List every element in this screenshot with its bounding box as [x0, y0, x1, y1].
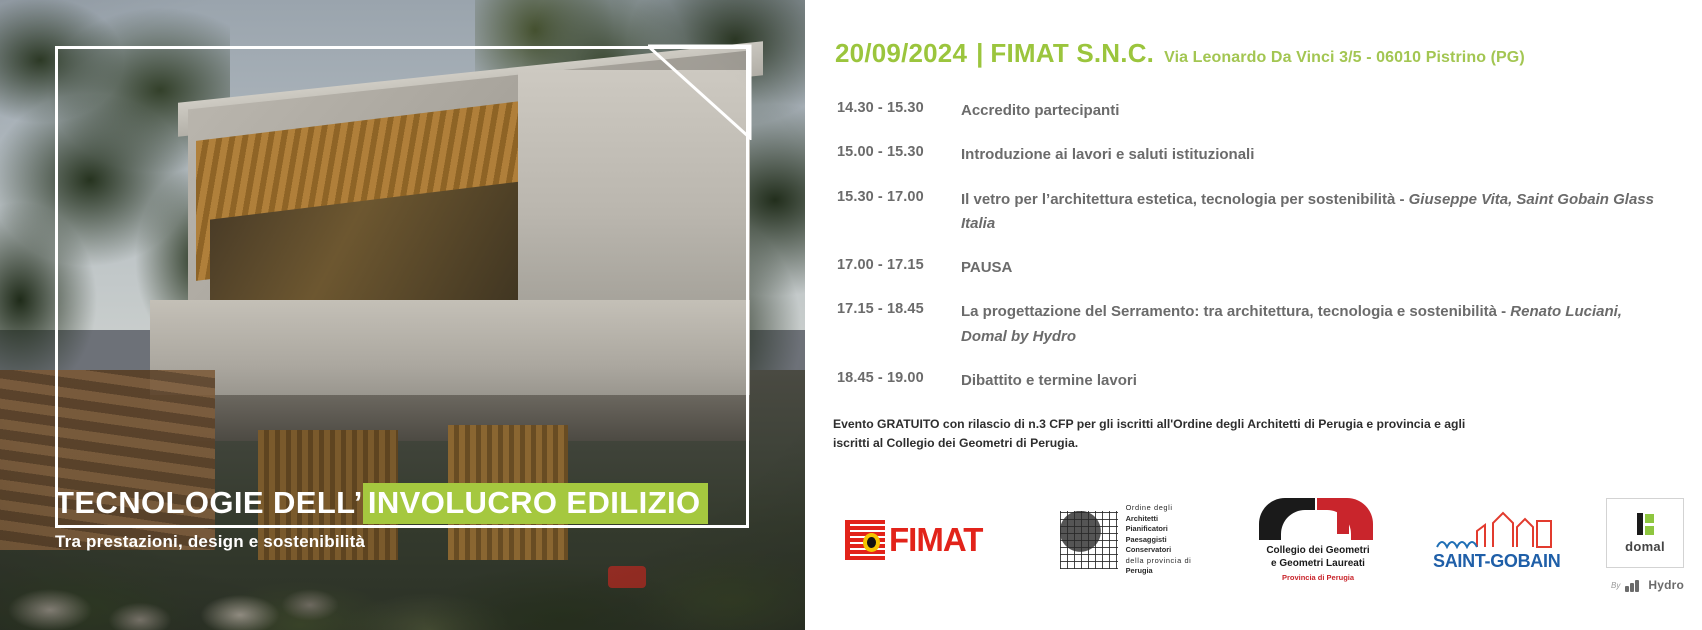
schedule-description: Accredito partecipanti	[961, 99, 1119, 123]
hydro-by-label: By	[1611, 581, 1620, 590]
geometri-line2: e Geometri Laureati	[1259, 557, 1377, 570]
schedule-time: 17.00 - 17.15	[831, 256, 961, 273]
headline-highlight: INVOLUCRO EDILIZIO	[363, 483, 708, 524]
sponsor-logo-strip: FIMAT Ordine degli Architetti Pianificat…	[845, 498, 1684, 582]
event-header: 20/09/2024 | FIMAT S.N.C. Via Leonardo D…	[835, 38, 1676, 69]
geometri-label: Collegio dei Geometri e Geometri Laureat…	[1259, 544, 1377, 570]
hero-headline: TECNOLOGIE DELL’INVOLUCRO EDILIZIO	[55, 486, 755, 520]
header-separator: |	[976, 38, 983, 69]
fimat-wordmark: FIMAT	[889, 521, 982, 559]
hydro-mark-icon	[1625, 579, 1643, 592]
schedule-row: 14.30 - 15.30 Accredito partecipanti	[831, 99, 1676, 123]
logo-fimat: FIMAT	[845, 517, 1003, 563]
schedule-list: 14.30 - 15.30 Accredito partecipanti 15.…	[831, 99, 1676, 393]
program-panel: 20/09/2024 | FIMAT S.N.C. Via Leonardo D…	[805, 0, 1702, 630]
architetti-line3: Pianificatori	[1126, 524, 1192, 535]
schedule-description: La progettazione del Serramento: tra arc…	[961, 300, 1661, 349]
hero-headline-block: TECNOLOGIE DELL’INVOLUCRO EDILIZIO Tra p…	[55, 486, 755, 552]
schedule-title: Il vetro per l’architettura estetica, te…	[961, 191, 1409, 208]
schedule-row: 15.30 - 17.00 Il vetro per l’architettur…	[831, 188, 1676, 237]
schedule-time: 14.30 - 15.30	[831, 99, 961, 116]
schedule-title: PAUSA	[961, 259, 1012, 276]
event-address: Via Leonardo Da Vinci 3/5 - 06010 Pistri…	[1164, 49, 1525, 67]
architetti-text: Ordine degli Architetti Pianificatori Pa…	[1126, 503, 1192, 577]
schedule-time: 15.30 - 17.00	[831, 188, 961, 205]
schedule-title: Dibattito e termine lavori	[961, 372, 1137, 389]
hydro-wordmark: Hydro	[1648, 578, 1684, 592]
geometri-sub: Provincia di Perugia	[1259, 573, 1377, 582]
event-company: FIMAT S.N.C.	[990, 38, 1154, 69]
logo-saint-gobain: SAINT-GOBAIN	[1428, 509, 1568, 572]
logo-ordine-architetti: Ordine degli Architetti Pianificatori Pa…	[1043, 503, 1208, 577]
schedule-row: 18.45 - 19.00 Dibattito e termine lavori	[831, 369, 1676, 393]
architetti-line7: Perugia	[1126, 566, 1192, 577]
architetti-line2: Architetti	[1126, 514, 1192, 525]
schedule-title: La progettazione del Serramento: tra arc…	[961, 303, 1510, 320]
headline-part1: TECNOLOGIE DELL’	[55, 485, 363, 520]
hero-photo-panel: TECNOLOGIE DELL’INVOLUCRO EDILIZIO Tra p…	[0, 0, 805, 630]
event-date: 20/09/2024	[835, 38, 967, 69]
schedule-description: Dibattito e termine lavori	[961, 369, 1137, 393]
hydro-credit: By Hydro	[1611, 578, 1684, 592]
architetti-line6: della provincia di	[1126, 556, 1192, 567]
fimat-eye-icon	[863, 533, 880, 552]
saint-gobain-wordmark: SAINT-GOBAIN	[1433, 551, 1563, 572]
geometri-mark-icon	[1259, 498, 1377, 540]
schedule-title: Introduzione ai lavori e saluti istituzi…	[961, 146, 1254, 163]
schedule-description: Il vetro per l’architettura estetica, te…	[961, 188, 1661, 237]
architetti-line5: Conservatori	[1126, 545, 1192, 556]
geometri-line1: Collegio dei Geometri	[1259, 544, 1377, 557]
architetti-line1: Ordine degli	[1126, 503, 1192, 514]
domal-wordmark: domal	[1625, 539, 1665, 554]
event-poster: TECNOLOGIE DELL’INVOLUCRO EDILIZIO Tra p…	[0, 0, 1702, 630]
saint-gobain-skyline-icon	[1433, 509, 1563, 549]
schedule-row: 17.00 - 17.15 PAUSA	[831, 256, 1676, 280]
schedule-row: 17.15 - 18.45 La progettazione del Serra…	[831, 300, 1676, 349]
schedule-time: 18.45 - 19.00	[831, 369, 961, 386]
logo-domal: domal	[1606, 498, 1684, 568]
architetti-grid-icon	[1060, 511, 1118, 569]
schedule-description: PAUSA	[961, 256, 1012, 280]
architetti-line4: Paesaggisti	[1126, 535, 1192, 546]
schedule-time: 15.00 - 15.30	[831, 143, 961, 160]
schedule-time: 17.15 - 18.45	[831, 300, 961, 317]
hero-subheadline: Tra prestazioni, design e sostenibilità	[55, 532, 755, 552]
schedule-title: Accredito partecipanti	[961, 102, 1119, 119]
logo-collegio-geometri: Collegio dei Geometri e Geometri Laureat…	[1248, 498, 1388, 582]
schedule-description: Introduzione ai lavori e saluti istituzi…	[961, 143, 1254, 167]
schedule-row: 15.00 - 15.30 Introduzione ai lavori e s…	[831, 143, 1676, 167]
domal-mark-icon	[1637, 513, 1654, 535]
fineprint-note: Evento GRATUITO con rilascio di n.3 CFP …	[833, 415, 1483, 453]
